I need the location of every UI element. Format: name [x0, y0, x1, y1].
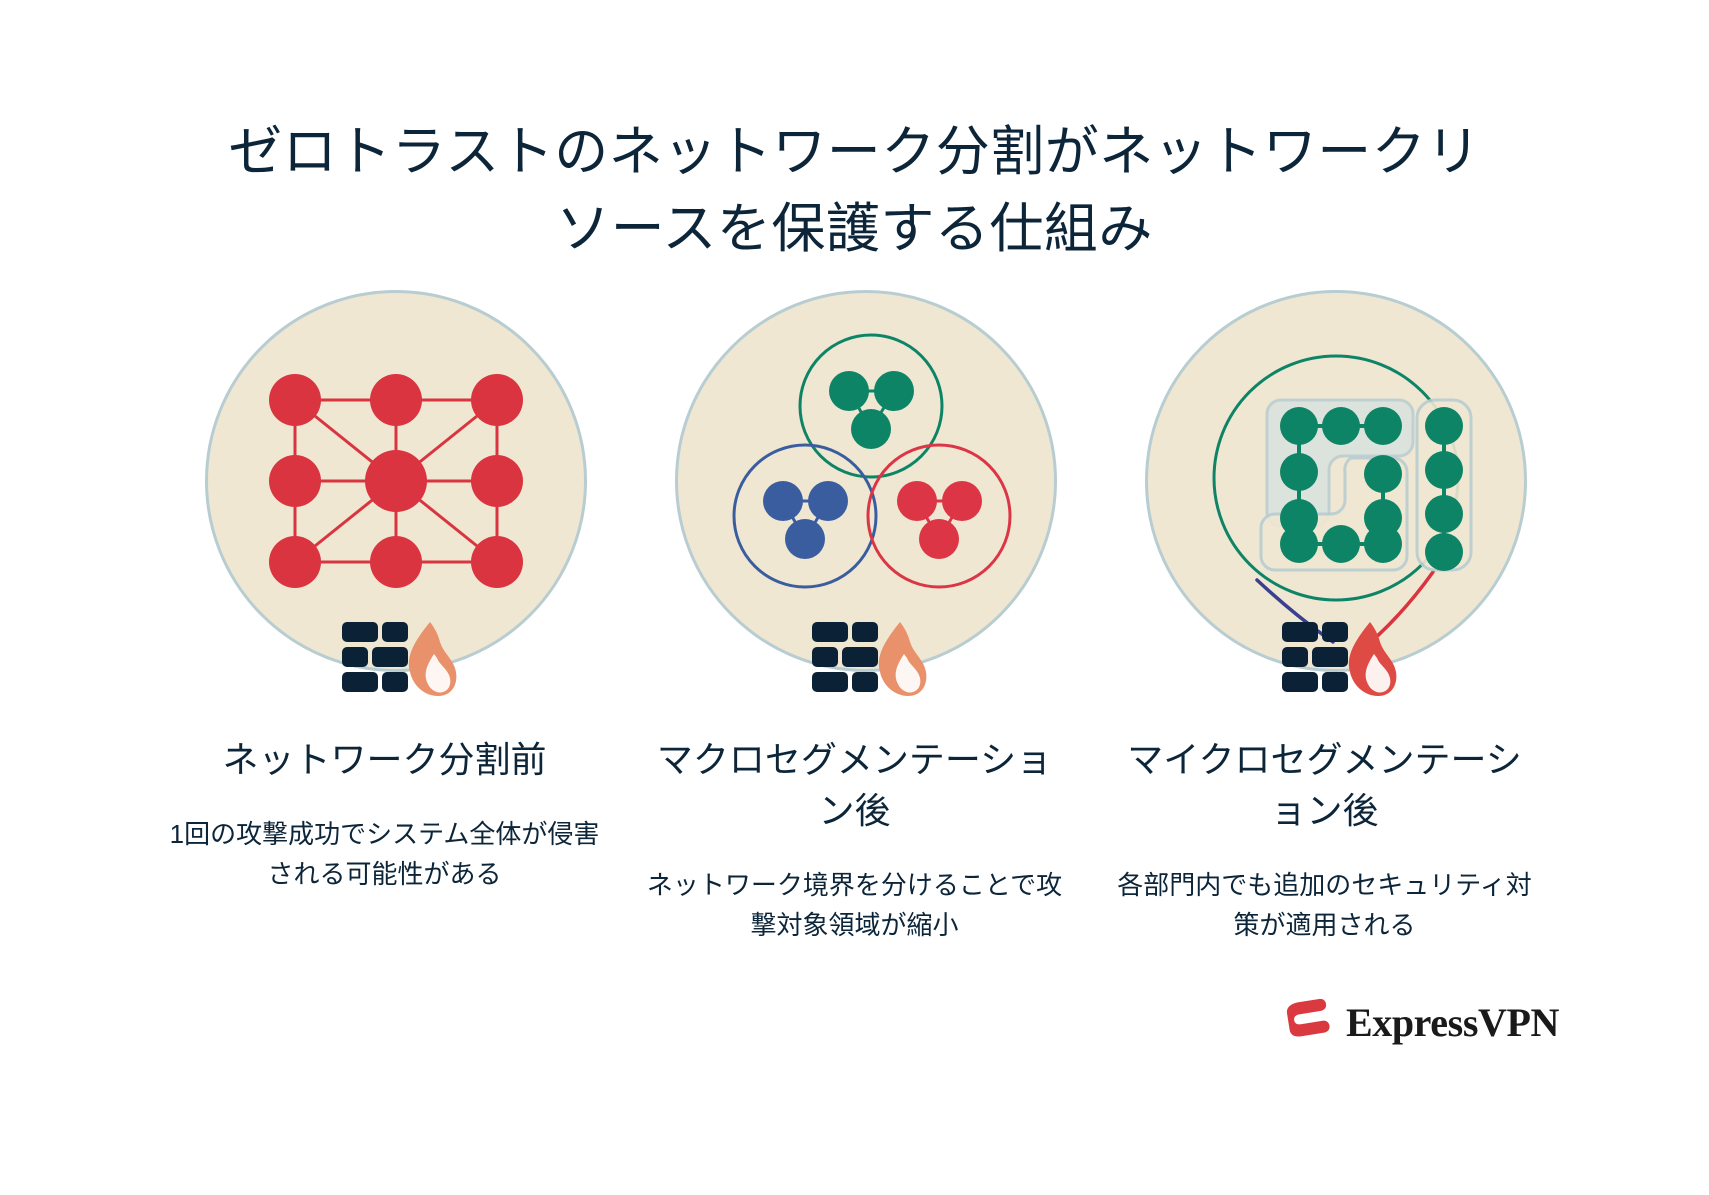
expressvpn-logo-mark-icon [1278, 994, 1334, 1050]
column-2-body: ネットワーク境界を分けることで攻撃対象領域が縮小 [635, 866, 1075, 945]
diagram-2-wrapper [650, 290, 1060, 700]
diagram-1-wrapper [180, 290, 590, 700]
column-2-heading: マクロセグメンテーション後 [645, 734, 1065, 836]
flame-icon [1348, 622, 1396, 696]
micro-segmented-network-diagram [1145, 290, 1527, 672]
page-title: ゼロトラストのネットワーク分割がネットワークリソースを保護する仕組み [205, 114, 1505, 267]
infographic-canvas: ゼロトラストのネットワーク分割がネットワークリソースを保護する仕組み [0, 0, 1709, 1195]
firewall-icon [1280, 620, 1398, 698]
flame-icon [878, 622, 926, 696]
column-3-heading: マイクロセグメンテーション後 [1115, 734, 1535, 836]
column-1-body: 1回の攻撃成功でシステム全体が侵害される可能性がある [165, 815, 605, 894]
diagram-3-wrapper [1120, 290, 1530, 700]
segment-green [800, 335, 942, 477]
macro-segmented-network-diagram [675, 290, 1057, 672]
column-micro-segmentation: マイクロセグメンテーション後 各部門内でも追加のセキュリティ対策が適用される [1090, 290, 1560, 945]
expressvpn-logo: ExpressVPN [1278, 994, 1559, 1050]
column-before-segmentation: ネットワーク分割前 1回の攻撃成功でシステム全体が侵害される可能性がある [150, 290, 620, 894]
flat-mesh-network-diagram [205, 290, 587, 672]
column-3-body: 各部門内でも追加のセキュリティ対策が適用される [1105, 866, 1545, 945]
column-1-heading: ネットワーク分割前 [175, 734, 595, 785]
segment-red [868, 445, 1010, 587]
firewall-icon [340, 620, 458, 698]
expressvpn-logo-text: ExpressVPN [1346, 999, 1559, 1046]
firewall-icon [810, 620, 928, 698]
columns-container: ネットワーク分割前 1回の攻撃成功でシステム全体が侵害される可能性がある [0, 290, 1709, 945]
column-macro-segmentation: マクロセグメンテーション後 ネットワーク境界を分けることで攻撃対象領域が縮小 [620, 290, 1090, 945]
flame-icon [408, 622, 456, 696]
segment-blue [734, 445, 876, 587]
